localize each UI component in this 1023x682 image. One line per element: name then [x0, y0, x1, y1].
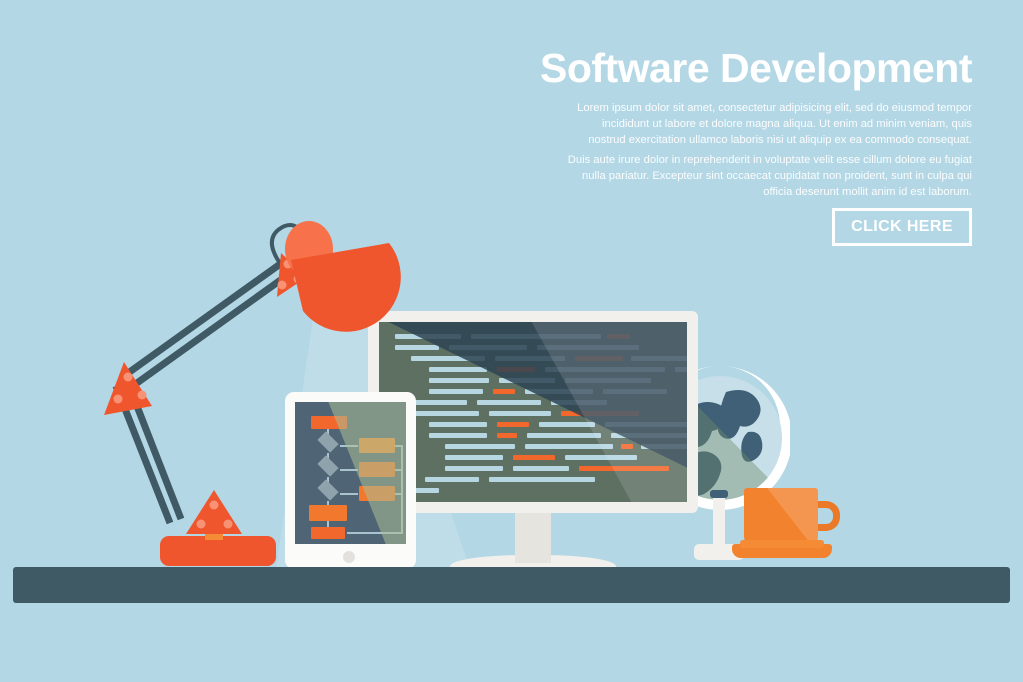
desktop-monitor — [368, 311, 698, 569]
desk-surface — [13, 567, 1010, 603]
tablet-light-wedge — [295, 402, 406, 544]
monitor-screen[interactable] — [379, 322, 687, 502]
tablet-screen[interactable] — [295, 402, 406, 544]
tablet-home-button[interactable] — [343, 551, 355, 563]
cup-gloss — [744, 488, 818, 548]
coffee-cup — [730, 482, 846, 570]
tablet-body — [285, 392, 416, 569]
cup-body — [744, 488, 818, 548]
cup-saucer-rim — [740, 540, 824, 548]
tablet-device — [285, 392, 416, 569]
monitor-bezel — [368, 311, 698, 513]
monitor-neck — [515, 513, 551, 563]
illustration-canvas: Software Development Lorem ipsum dolor s… — [0, 0, 1023, 682]
screen-light-wedge — [379, 322, 687, 502]
